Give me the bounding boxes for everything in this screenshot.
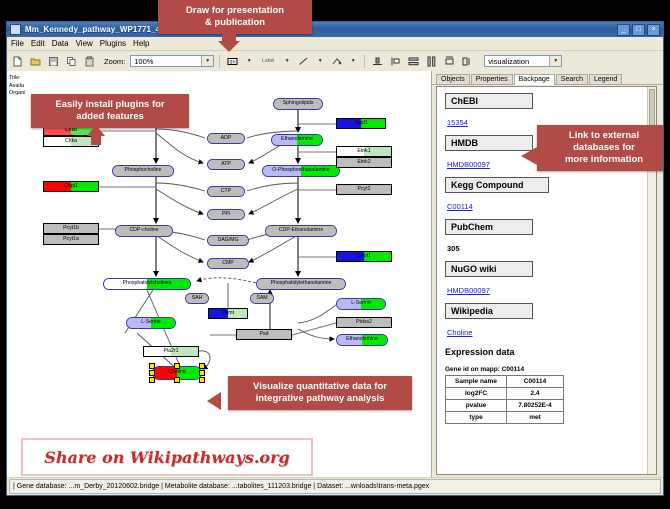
- row-value-type: met: [507, 412, 564, 424]
- tab-legend[interactable]: Legend: [589, 74, 622, 84]
- node-label: Phosphatidylcholines: [123, 281, 172, 286]
- node-label: CDP-Ethanolamine: [279, 228, 323, 233]
- metabolite-node[interactable]: SAM: [250, 293, 274, 304]
- datanode-icon[interactable]: dn: [225, 54, 240, 69]
- title-bar: Mm_Kennedy_pathway_WP1771_45176.gpml _ □…: [7, 22, 663, 37]
- expression-table: Sample name C00114 log2FC 2.4 pvalue 7.8…: [445, 375, 564, 424]
- node-label: Choline: [168, 370, 186, 375]
- chevron-down-icon[interactable]: ▼: [201, 56, 213, 66]
- callout-plugins-arrow-stem: [91, 133, 101, 145]
- node-label: Pla2r1: [164, 349, 179, 354]
- expression-data-heading: Expression data: [445, 347, 648, 357]
- new-file-icon[interactable]: [10, 54, 25, 69]
- node-label: Ptdss2: [356, 320, 372, 325]
- gene-node[interactable]: Etnk1: [336, 146, 392, 157]
- node-label: Cept1: [357, 254, 371, 259]
- menu-view[interactable]: View: [76, 39, 93, 48]
- line-dropdown-icon[interactable]: ▼: [314, 55, 326, 68]
- maximize-button[interactable]: □: [632, 24, 645, 36]
- zoom-label: Zoom:: [104, 57, 125, 66]
- callout-link: Link to externaldatabases formore inform…: [537, 125, 663, 171]
- arrow-shape-icon[interactable]: [329, 54, 344, 69]
- node-label: Ethanolamine: [281, 137, 313, 142]
- label-icon[interactable]: Label: [258, 54, 278, 69]
- node-label: O-Phosphoethanolamine: [272, 168, 329, 173]
- gene-id-label: Gene id on mapp: C00114: [445, 366, 648, 373]
- db-link-kegg[interactable]: C00114: [447, 202, 473, 211]
- gene-node[interactable]: Pcyt1a: [43, 234, 99, 245]
- node-label: SAH: [192, 296, 203, 301]
- menu-file[interactable]: File: [11, 39, 24, 48]
- table-row: type met: [446, 412, 564, 424]
- db-link-hmdb[interactable]: HMDB00097: [447, 160, 490, 169]
- callout-visualize-arrow-icon: [207, 392, 221, 410]
- open-folder-icon[interactable]: [28, 54, 43, 69]
- node-label: Etnk1: [357, 149, 370, 154]
- selection-handle[interactable]: [149, 370, 155, 376]
- selection-handle[interactable]: [199, 377, 205, 383]
- row-key-pvalue: pvalue: [446, 400, 507, 412]
- node-label: L-Serine: [351, 301, 371, 306]
- status-text: | Gene database: ...m_Derby_20120602.bri…: [9, 479, 661, 494]
- callout-draw-arrow-stem: [222, 31, 236, 41]
- db-header-pubchem: PubChem: [445, 219, 533, 235]
- node-label: Ethanolamine: [346, 337, 378, 342]
- metabolite-node[interactable]: Phosphatidylethanolamine: [256, 278, 346, 290]
- node-label: CMP: [222, 261, 234, 266]
- menu-edit[interactable]: Edit: [31, 39, 45, 48]
- callout-draw-text: Draw for presentation& publication: [186, 5, 284, 28]
- metabolite-node[interactable]: ATP: [207, 159, 245, 170]
- node-label: CDP-choline: [129, 228, 158, 233]
- datanode-dropdown-icon[interactable]: ▼: [243, 55, 255, 68]
- metabolite-node[interactable]: PPi: [207, 209, 245, 220]
- metabolite-node[interactable]: L-Serine: [126, 317, 176, 329]
- node-label: Chkb: [65, 128, 77, 133]
- app-root: Mm_Kennedy_pathway_WP1771_45176.gpml _ □…: [0, 0, 670, 509]
- align-left-icon[interactable]: [388, 54, 403, 69]
- metabolite-node[interactable]: Sphingolipids: [273, 98, 323, 110]
- node-label: ATP: [221, 162, 231, 167]
- selection-handle[interactable]: [199, 363, 205, 369]
- db-link-nugowiki[interactable]: HMDB00097: [447, 286, 490, 295]
- row-key-type: type: [446, 412, 507, 424]
- distribute-vertical-icon[interactable]: [406, 54, 421, 69]
- row-key-sample-name: Sample name: [446, 376, 507, 388]
- table-row: log2FC 2.4: [446, 388, 564, 400]
- distribute-horizontal-icon[interactable]: [424, 54, 439, 69]
- row-value-sample-name: C00114: [507, 376, 564, 388]
- node-label: Phosphocholine: [125, 168, 162, 173]
- selection-handle[interactable]: [199, 370, 205, 376]
- db-value-pubchem: 305: [447, 244, 460, 253]
- metabolite-node[interactable]: L-Serine: [336, 298, 386, 310]
- row-value-log2fc: 2.4: [507, 388, 564, 400]
- metabolite-node[interactable]: Ethanolamine: [336, 334, 388, 346]
- callout-link-arrow-icon: [521, 147, 537, 165]
- node-label: PPi: [222, 212, 230, 217]
- side-panel-tabs: Objects Properties Backpage Search Legen…: [432, 71, 663, 85]
- node-label: CTP: [221, 189, 231, 194]
- menu-plugins[interactable]: Plugins: [100, 39, 126, 48]
- main-body: Title: Availa Organi: [7, 71, 663, 478]
- metabolite-node[interactable]: Ethanolamine: [271, 134, 323, 146]
- gene-node[interactable]: Psd: [236, 329, 292, 340]
- toolbar: Zoom: 100% ▼ dn ▼ Label ▼ ▼ ▼: [7, 51, 663, 72]
- toolbar-separator-2: [364, 55, 365, 68]
- node-label: Psd: [260, 332, 269, 337]
- app-icon: [10, 24, 21, 35]
- db-header-kegg: Kegg Compound: [445, 177, 549, 193]
- arrow-dropdown-icon[interactable]: ▼: [347, 55, 359, 68]
- visualization-value: visualization: [488, 57, 529, 66]
- node-label: Pcyt1a: [63, 237, 79, 242]
- db-header-chebi: ChEBI: [445, 93, 533, 109]
- label-dropdown-icon[interactable]: ▼: [281, 55, 293, 68]
- share-banner-text: Share on Wikipathways.org: [44, 448, 289, 467]
- tab-search[interactable]: Search: [556, 74, 588, 84]
- svg-text:dn: dn: [230, 59, 236, 65]
- gene-node[interactable]: Pcyt2: [336, 184, 392, 195]
- visualization-combobox[interactable]: visualization ▼: [484, 55, 562, 67]
- selection-handle[interactable]: [149, 377, 155, 383]
- metabolite-node[interactable]: SAH: [185, 293, 209, 304]
- metabolite-node[interactable]: CDP-choline: [115, 225, 173, 237]
- save-icon[interactable]: [46, 54, 61, 69]
- table-row: Sample name C00114: [446, 376, 564, 388]
- selection-handle[interactable]: [174, 363, 180, 369]
- selection-handle[interactable]: [174, 377, 180, 383]
- callout-plugins: Easily install plugins foradded features: [31, 94, 189, 128]
- callout-draw: Draw for presentation& publication: [158, 0, 312, 34]
- metabolite-node[interactable]: DAG/MG: [207, 235, 249, 246]
- node-label: Pemt: [222, 311, 234, 316]
- db-header-nugowiki: NuGO wiki: [445, 261, 533, 277]
- node-label: L-Serine: [141, 320, 161, 325]
- same-height-icon[interactable]: [460, 54, 475, 69]
- node-label: Phosphatidylethanolamine: [271, 281, 332, 286]
- menu-help[interactable]: Help: [133, 39, 149, 48]
- db-link-wikipedia[interactable]: Choline: [447, 328, 472, 337]
- row-key-log2fc: log2FC: [446, 388, 507, 400]
- zoom-value: 100%: [134, 57, 153, 66]
- menu-bar: File Edit Data View Plugins Help: [7, 37, 663, 51]
- metabolite-node[interactable]: CDP-Ethanolamine: [265, 225, 337, 237]
- pathway-canvas[interactable]: Title: Availa Organi: [7, 71, 432, 478]
- line-icon[interactable]: [296, 54, 311, 69]
- db-link-chebi[interactable]: 15354: [447, 118, 468, 127]
- node-label: Chka: [65, 139, 77, 144]
- selection-handle[interactable]: [149, 363, 155, 369]
- node-label: Pcyt1b: [63, 226, 79, 231]
- gene-node[interactable]: Pemt: [208, 308, 248, 319]
- callout-visualize: Visualize quantitative data forintegrati…: [228, 376, 412, 410]
- db-header-hmdb: HMDB: [445, 135, 533, 151]
- gene-node[interactable]: Ptdss2: [336, 317, 392, 328]
- gene-node[interactable]: Pla2r1: [143, 346, 199, 357]
- metabolite-node[interactable]: Phosphatidylcholines: [103, 278, 191, 290]
- callout-plugins-text: Easily install plugins foradded features: [55, 99, 164, 122]
- metabolite-node[interactable]: CTP: [207, 186, 245, 197]
- node-label: SAM: [256, 296, 267, 301]
- table-row: pvalue 7.80252E-4: [446, 400, 564, 412]
- db-header-wikipedia: Wikipedia: [445, 303, 533, 319]
- window-controls[interactable]: _ □ ×: [617, 24, 660, 36]
- same-width-icon[interactable]: [442, 54, 457, 69]
- row-value-pvalue: 7.80252E-4: [507, 400, 564, 412]
- metabolite-node[interactable]: ADP: [207, 133, 245, 144]
- gene-node[interactable]: Pcyt1b: [43, 223, 99, 234]
- chevron-down-icon-2[interactable]: ▼: [549, 56, 561, 66]
- callout-visualize-text: Visualize quantitative data forintegrati…: [253, 381, 387, 404]
- copy-icon[interactable]: [64, 54, 79, 69]
- tab-objects[interactable]: Objects: [436, 74, 470, 84]
- application-window: Mm_Kennedy_pathway_WP1771_45176.gpml _ □…: [6, 21, 664, 496]
- node-label: Pcyt2: [358, 187, 371, 192]
- paste-icon[interactable]: [82, 54, 97, 69]
- metabolite-node[interactable]: CMP: [207, 258, 249, 269]
- gene-node[interactable]: Etnk2: [336, 157, 392, 168]
- status-bar: | Gene database: ...m_Derby_20120602.bri…: [7, 477, 663, 495]
- node-label: DAG/MG: [217, 238, 238, 243]
- share-banner: Share on Wikipathways.org: [21, 438, 313, 476]
- callout-draw-arrow-icon: [218, 41, 240, 52]
- tab-properties[interactable]: Properties: [471, 74, 513, 84]
- metabolite-node[interactable]: O-Phosphoethanolamine: [262, 165, 340, 177]
- node-label: Sphingolipids: [283, 101, 314, 106]
- node-label: Sgpl1: [354, 121, 367, 126]
- node-label: ADP: [221, 136, 232, 141]
- gene-node[interactable]: Chpt1: [43, 181, 99, 192]
- gene-node[interactable]: Cept1: [336, 251, 392, 262]
- tab-backpage[interactable]: Backpage: [514, 74, 555, 85]
- metabolite-node[interactable]: Phosphocholine: [112, 165, 174, 177]
- callout-link-text: Link to externaldatabases formore inform…: [565, 130, 643, 165]
- close-button[interactable]: ×: [647, 24, 660, 36]
- node-label: Etnk2: [357, 160, 370, 165]
- toolbar-separator: [219, 55, 220, 68]
- menu-data[interactable]: Data: [52, 39, 69, 48]
- minimize-button[interactable]: _: [617, 24, 630, 36]
- side-panel: Objects Properties Backpage Search Legen…: [432, 71, 663, 478]
- align-top-icon[interactable]: [370, 54, 385, 69]
- node-label: Chpt1: [64, 184, 78, 189]
- zoom-combobox[interactable]: 100% ▼: [130, 55, 214, 67]
- gene-node[interactable]: Sgpl1: [336, 118, 386, 129]
